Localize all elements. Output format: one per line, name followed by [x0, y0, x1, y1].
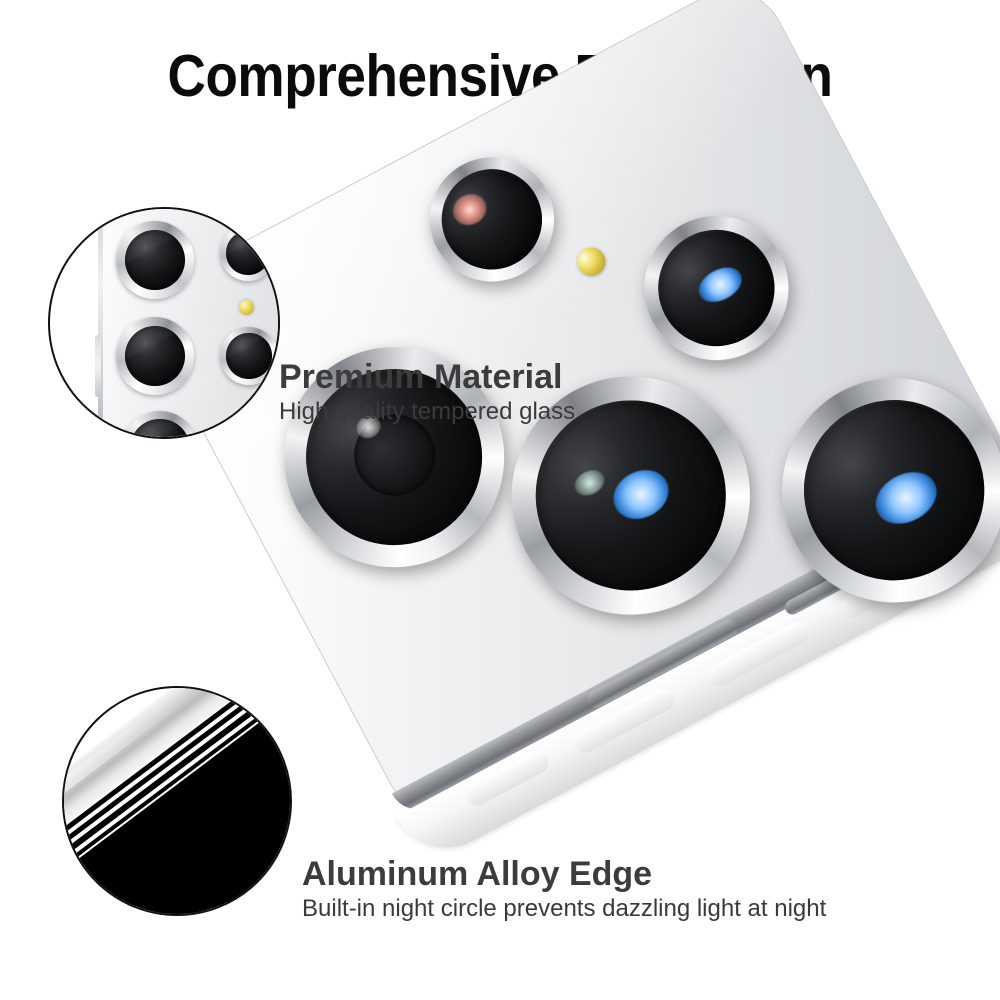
callout-title: Premium Material: [279, 358, 575, 396]
mini-phone-body: [98, 207, 280, 439]
product-marketing-image: Comprehensive Protection: [0, 0, 1000, 1000]
alloy-edge-illustration: [64, 688, 290, 914]
camera-module-closeup-inset: [48, 207, 280, 439]
alloy-edge-bands: [62, 686, 292, 916]
lens-glass: [226, 333, 271, 378]
callout-title: Aluminum Alloy Edge: [302, 855, 826, 893]
mini-telephoto-lens: [220, 225, 276, 281]
lens-glass: [226, 231, 270, 275]
callout-premium-material: Premium Material High quality tempered g…: [279, 358, 575, 427]
mini-main-lens: [116, 317, 194, 395]
mini-led-flash: [239, 300, 254, 315]
mini-periscope-lens: [122, 411, 198, 439]
lens-glass: [130, 419, 189, 439]
callout-aluminum-alloy-edge: Aluminum Alloy Edge Built-in night circl…: [302, 855, 826, 924]
lens-glass: [125, 230, 186, 291]
mini-wide-lens: [116, 221, 194, 299]
lens-glass: [125, 326, 186, 387]
callout-subtitle: Built-in night circle prevents dazzling …: [302, 895, 826, 924]
alloy-edge-macro-inset: [62, 686, 292, 916]
callout-subtitle: High quality tempered glass: [279, 398, 575, 427]
mini-ultrawide-lens: [220, 327, 278, 385]
lens-flare: [867, 462, 946, 533]
